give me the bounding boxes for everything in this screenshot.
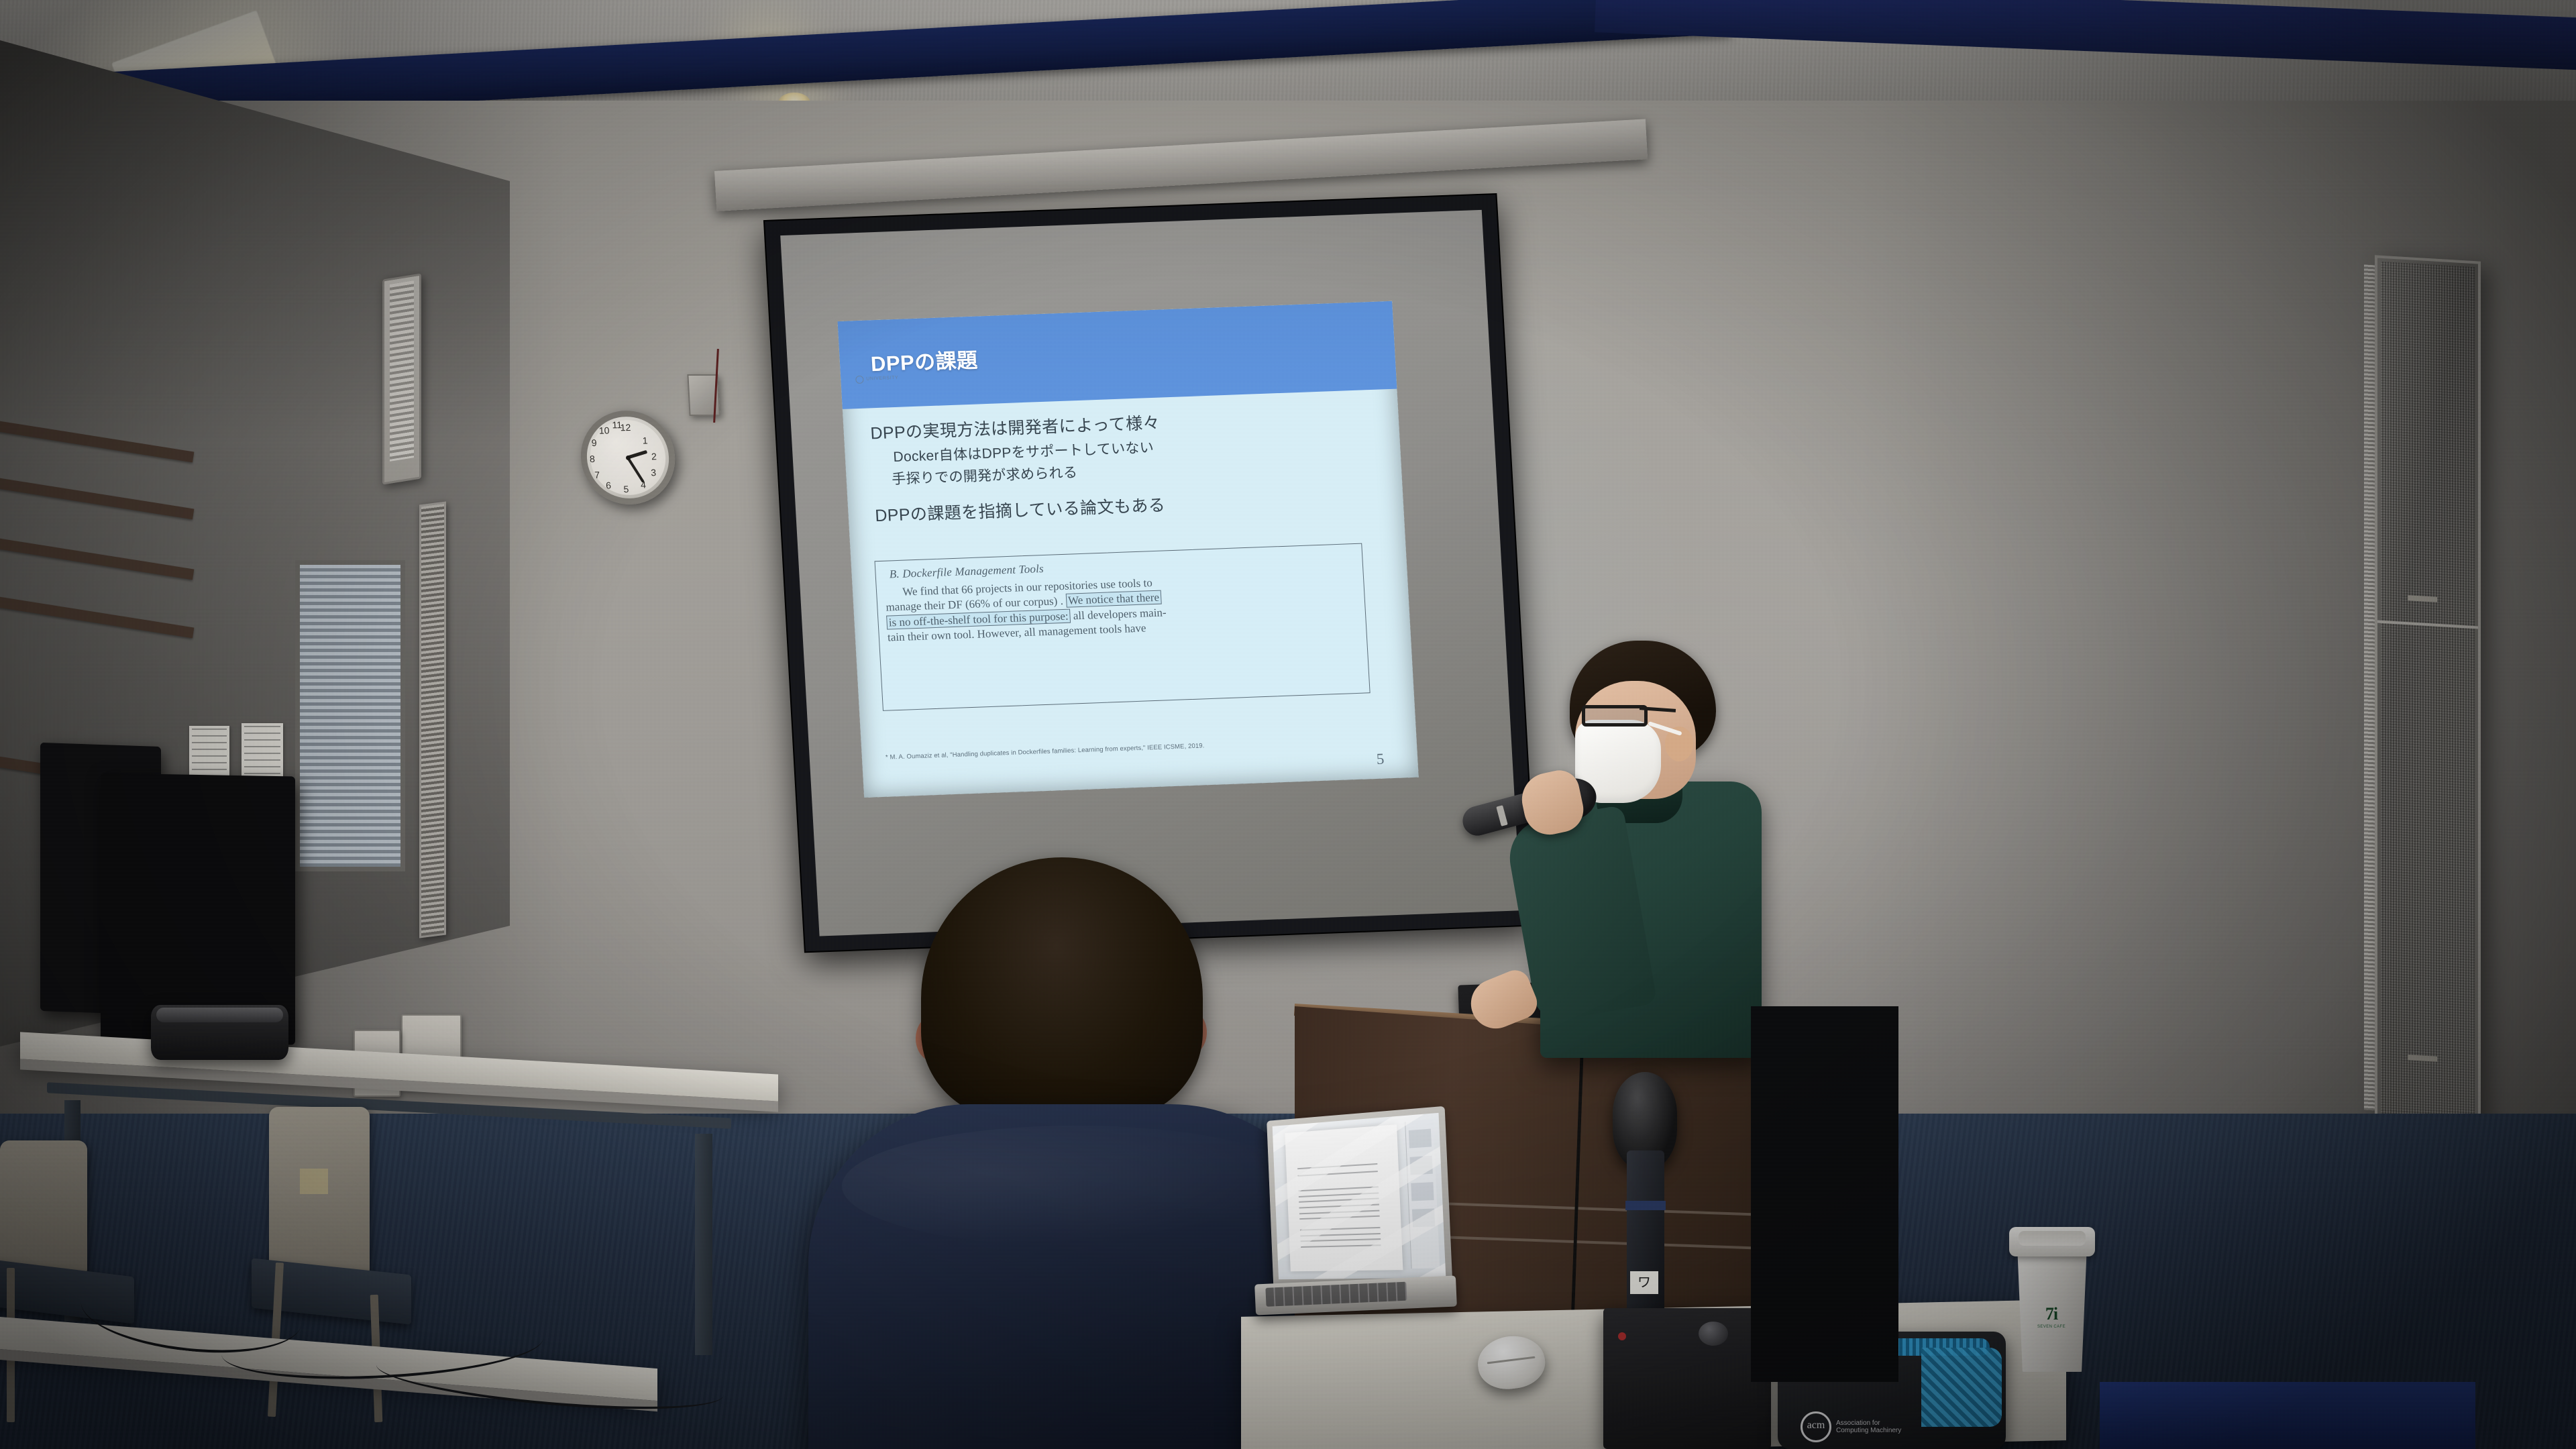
ac-fins — [390, 280, 414, 462]
slide-footnote: * M. A. Oumaziz et al, "Handling duplica… — [885, 742, 1205, 761]
equipment-shadow-block — [1751, 1006, 1898, 1382]
projection-screen-surface: DPPの課題 DPPの実現方法は開発者によって様々 Docker自体はDPPをサ… — [780, 210, 1521, 936]
speaker-mesh — [2381, 262, 2475, 1126]
slide-title: DPPの課題 — [870, 343, 979, 377]
speakerphone-top-plate — [156, 1008, 283, 1022]
mic-volume-knob[interactable] — [1699, 1322, 1728, 1346]
presenter-glasses — [1582, 705, 1648, 727]
pouch-mesh-trim — [1921, 1348, 2002, 1427]
attendee-laptop[interactable] — [1265, 1114, 1456, 1315]
microphone-base-unit[interactable] — [1603, 1308, 1771, 1449]
clock-number: 1 — [642, 435, 648, 446]
projection-screen: DPPの課題 DPPの実現方法は開発者によって様々 Docker自体はDPPをサ… — [765, 195, 1536, 951]
attendee-hair — [921, 857, 1203, 1119]
clock-number: 2 — [651, 451, 657, 462]
mic-power-led — [1618, 1332, 1626, 1340]
excerpt-line-3-plain: all developers main- — [1073, 606, 1167, 622]
laptop-sidebar-thumbnails[interactable] — [1405, 1120, 1440, 1268]
cup-brand-sub: SEVEN CAFE — [2037, 1325, 2065, 1329]
mouse-button-split — [1487, 1356, 1536, 1364]
clock-number: 5 — [623, 484, 629, 494]
cup-lid-inner — [2019, 1231, 2086, 1246]
clock-number: 8 — [590, 453, 596, 464]
paper-excerpt-box: B. Dockerfile Management Tools We find t… — [875, 543, 1371, 711]
slide-bullet-4: DPPの課題を指摘している論文もある — [874, 484, 1384, 527]
laptop-document-page — [1285, 1124, 1403, 1271]
table-leg — [695, 1134, 712, 1355]
attendee-sweater-sheen — [842, 1126, 1311, 1246]
clock-number: 7 — [594, 470, 600, 480]
wall-line-array-speaker — [2375, 255, 2481, 1132]
wall-vent-grille — [419, 502, 446, 938]
conference-speakerphone[interactable] — [151, 1005, 288, 1060]
pouch-logo: acm Association for Computing Machinery — [1801, 1411, 1901, 1442]
pouch-sub-line-2: Computing Machinery — [1836, 1427, 1901, 1434]
clock-center-pin — [625, 455, 630, 460]
laptop-screen[interactable] — [1273, 1113, 1446, 1279]
mic-channel-label: ワ — [1630, 1271, 1658, 1294]
clock-number: 9 — [591, 437, 597, 448]
cup-brand-logo: 7i SEVEN CAFE — [2032, 1298, 2071, 1334]
logo-text: UNIVERSITY — [866, 376, 898, 382]
laptop-lid — [1267, 1106, 1452, 1287]
clock-number: 10 — [598, 425, 609, 436]
window-left — [295, 560, 405, 871]
laptop-keyboard[interactable] — [1265, 1282, 1407, 1307]
equipment-panel-left-2 — [101, 773, 295, 1044]
floor-item-blue — [2100, 1382, 2475, 1449]
slide-logo: UNIVERSITY — [855, 374, 899, 383]
window-blinds — [300, 565, 400, 867]
slide-body: DPPの実現方法は開発者によって様々 Docker自体はDPPをサポートしていな… — [868, 402, 1384, 527]
acm-logo-icon: acm — [1801, 1411, 1831, 1442]
slide-page-number: 5 — [1376, 751, 1385, 768]
cup-brand-mark: 7i — [2045, 1304, 2057, 1324]
pouch-sub-line-1: Association for — [1836, 1419, 1880, 1427]
presentation-slide: DPPの課題 DPPの実現方法は開発者によって様々 Docker自体はDPPをサ… — [838, 301, 1419, 798]
presenter — [1496, 641, 1764, 1057]
coffee-cup[interactable]: 7i SEVEN CAFE — [2009, 1218, 2095, 1372]
lecture-room-photo: 12 1 2 3 4 5 6 7 8 9 10 11 DPPの課題 DP — [0, 0, 2576, 1449]
gooseneck-mic-band — [1625, 1201, 1666, 1210]
chair-backrest — [0, 1140, 87, 1275]
cup-lid — [2009, 1227, 2095, 1256]
clock-number: 11 — [612, 419, 622, 430]
clock-number: 3 — [651, 467, 657, 478]
wall-ac-unit — [382, 273, 421, 484]
chair-label-tag — [300, 1169, 328, 1194]
clock-number: 6 — [606, 480, 612, 490]
pouch-logo-subtext: Association for Computing Machinery — [1836, 1419, 1901, 1435]
logo-mark-icon — [855, 375, 864, 383]
